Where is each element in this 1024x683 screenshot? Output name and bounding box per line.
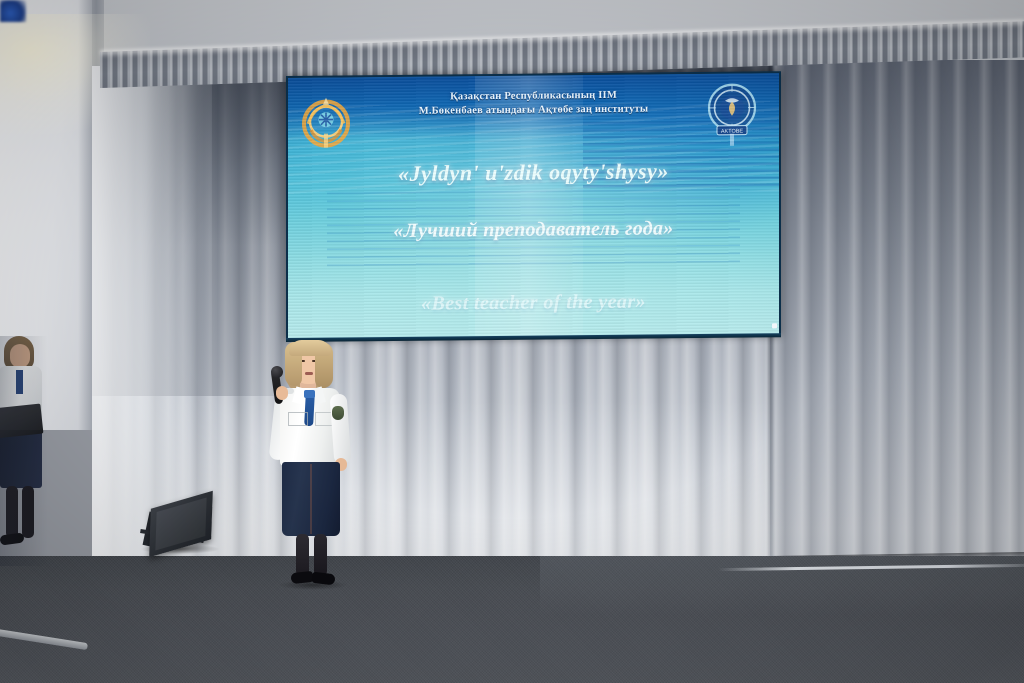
screen-corner-indicator bbox=[772, 323, 777, 328]
speaker-tie-knot bbox=[304, 390, 315, 398]
speaker-skirt-seam bbox=[310, 464, 312, 534]
stage-photo-scene: AKTOBE Қазақстан Республикасының ІІМ М.Б… bbox=[0, 0, 1024, 683]
blue-corner-object bbox=[0, 0, 26, 22]
microphone-head-icon bbox=[271, 366, 283, 378]
female-officer-speaker bbox=[258, 340, 362, 590]
led-screen-display: AKTOBE Қазақстан Республикасының ІІМ М.Б… bbox=[288, 73, 779, 339]
speaker-hand-left bbox=[276, 386, 288, 400]
speaker-mouth bbox=[305, 372, 313, 375]
female-officer-assistant bbox=[0, 336, 54, 566]
speaker-hair-top bbox=[289, 340, 331, 356]
speaker-shoe-left bbox=[290, 571, 313, 584]
speaker-leg-right bbox=[314, 534, 327, 576]
speaker-arm-right bbox=[330, 393, 352, 464]
assistant-shading bbox=[0, 336, 48, 566]
led-screen-frame: AKTOBE Қазақстан Республикасының ІІМ М.Б… bbox=[286, 71, 781, 341]
speaker-pocket-left bbox=[288, 412, 308, 426]
curtain-right-panel bbox=[770, 60, 1024, 632]
shoulder-patch-icon bbox=[332, 406, 344, 420]
screen-title-kazakh: «Jyldyn' u'zdik oqyty'shysy» bbox=[288, 157, 779, 188]
screen-title-russian: «Лучший преподаватель года» bbox=[288, 216, 779, 244]
screen-title-english: «Best teacher of the year» bbox=[288, 289, 779, 317]
speaker-leg-left bbox=[296, 534, 309, 576]
